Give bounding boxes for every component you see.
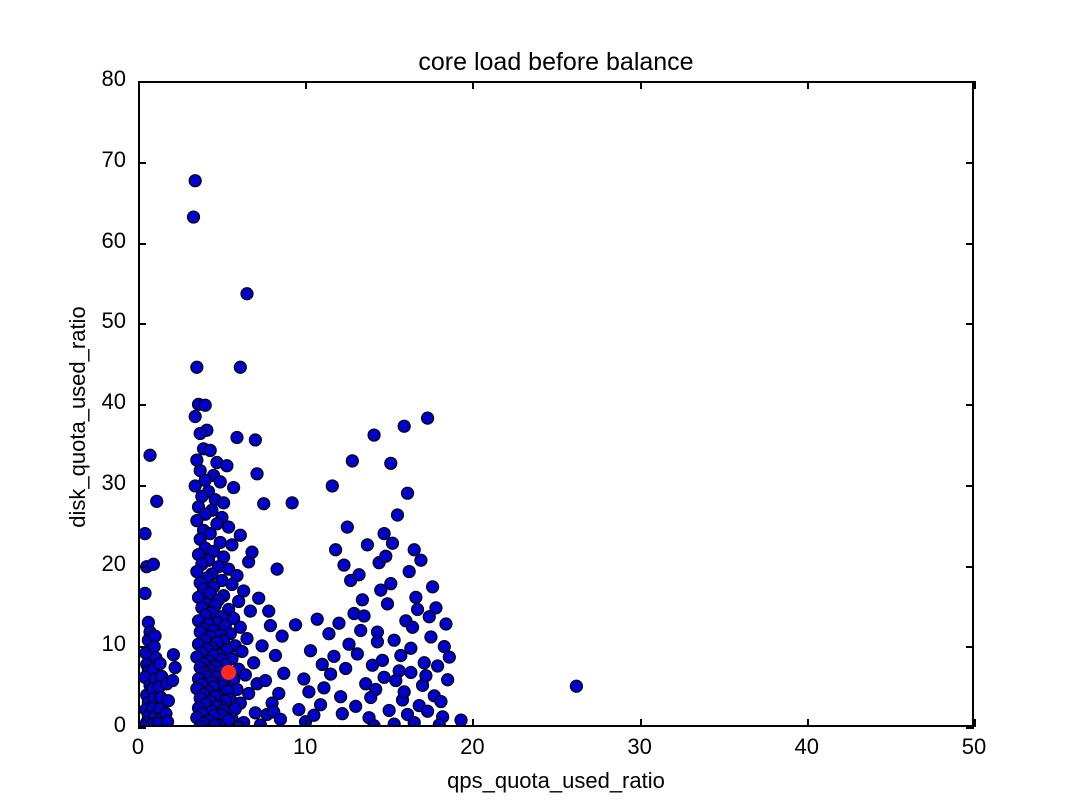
data-point	[353, 569, 365, 581]
data-point	[358, 610, 370, 622]
data-point	[311, 613, 323, 625]
data-point	[269, 650, 281, 662]
x-axis-tick-label: 10	[265, 734, 345, 760]
data-point	[455, 714, 467, 726]
data-point	[351, 648, 363, 660]
data-point	[355, 624, 367, 636]
data-point	[335, 691, 347, 703]
data-point	[380, 550, 392, 562]
data-point	[371, 636, 383, 648]
data-point	[259, 675, 271, 687]
plot-area	[138, 81, 974, 727]
data-point	[385, 578, 397, 590]
data-point	[315, 699, 327, 711]
data-point	[189, 175, 201, 187]
data-point	[298, 673, 310, 685]
data-point	[376, 654, 388, 666]
data-point	[328, 650, 340, 662]
data-point	[258, 498, 270, 510]
data-point	[223, 521, 235, 533]
data-point	[140, 587, 151, 599]
data-point	[148, 641, 160, 653]
data-point	[274, 713, 286, 725]
data-points-layer	[140, 83, 974, 727]
y-axis-tick	[966, 485, 974, 487]
data-point	[425, 631, 437, 643]
data-point	[326, 480, 338, 492]
x-axis-tick	[138, 719, 140, 727]
data-point	[239, 669, 251, 681]
data-point	[194, 721, 206, 727]
data-point	[318, 682, 330, 694]
data-point	[248, 657, 260, 669]
data-point	[263, 605, 275, 617]
x-axis-tick	[640, 81, 642, 89]
data-point	[398, 420, 410, 432]
data-point	[432, 660, 444, 672]
x-axis-tick-label: 40	[767, 734, 847, 760]
y-axis-tick	[138, 646, 146, 648]
y-axis-tick	[138, 485, 146, 487]
data-point	[418, 657, 430, 669]
data-point	[378, 528, 390, 540]
y-axis-tick	[138, 243, 146, 245]
data-point	[383, 704, 395, 716]
data-point	[408, 544, 420, 556]
y-axis-tick	[138, 162, 146, 164]
data-point	[361, 539, 373, 551]
x-axis-tick-label: 20	[432, 734, 512, 760]
data-point	[408, 717, 420, 727]
data-point	[286, 497, 298, 509]
y-axis-tick-label: 10	[48, 631, 126, 657]
y-axis-tick	[138, 81, 146, 83]
data-point	[415, 554, 427, 566]
y-axis-tick	[966, 162, 974, 164]
data-point	[162, 695, 174, 707]
data-point	[303, 686, 315, 698]
data-point	[368, 429, 380, 441]
y-axis-tick-label: 0	[48, 712, 126, 738]
x-axis-tick-label: 30	[600, 734, 680, 760]
data-point	[191, 361, 203, 373]
data-point	[276, 630, 288, 642]
y-axis-tick	[966, 646, 974, 648]
data-point	[189, 411, 201, 423]
data-point	[420, 670, 432, 682]
data-point	[340, 662, 352, 674]
x-axis-tick	[640, 719, 642, 727]
data-point	[233, 595, 245, 607]
data-point	[154, 658, 166, 670]
data-point	[365, 692, 377, 704]
data-point	[278, 667, 290, 679]
data-point	[264, 620, 276, 632]
x-axis-tick	[807, 719, 809, 727]
x-axis-tick	[807, 81, 809, 89]
data-point	[403, 566, 415, 578]
data-point	[410, 591, 422, 603]
data-point	[226, 539, 238, 551]
data-point	[204, 444, 216, 456]
data-point	[167, 675, 179, 687]
data-point	[249, 707, 261, 719]
x-axis-tick	[974, 81, 976, 89]
data-point	[398, 686, 410, 698]
data-point	[350, 700, 362, 712]
x-axis-tick	[472, 719, 474, 727]
data-point	[333, 617, 345, 629]
data-point	[323, 628, 335, 640]
data-point	[228, 482, 240, 494]
data-point	[440, 618, 452, 630]
data-point	[430, 602, 442, 614]
x-axis-tick	[472, 81, 474, 89]
data-point	[336, 708, 348, 720]
data-point	[390, 675, 402, 687]
data-point	[391, 509, 403, 521]
data-point	[341, 521, 353, 533]
data-point	[316, 658, 328, 670]
data-point	[194, 427, 206, 439]
data-point	[253, 592, 265, 604]
data-point	[218, 497, 230, 509]
x-axis-tick	[305, 81, 307, 89]
data-point	[368, 720, 380, 727]
y-axis-tick	[138, 566, 146, 568]
data-point	[221, 665, 236, 680]
data-point	[226, 578, 238, 590]
data-point	[151, 495, 163, 507]
y-axis-tick	[138, 323, 146, 325]
data-point	[308, 709, 320, 721]
data-point	[140, 528, 151, 540]
data-point	[325, 668, 337, 680]
y-axis-tick-label: 80	[48, 66, 126, 92]
data-point	[209, 720, 221, 727]
data-point	[435, 696, 447, 708]
data-point	[442, 674, 454, 686]
data-point	[378, 671, 390, 683]
y-axis-tick	[138, 404, 146, 406]
data-point	[422, 412, 434, 424]
data-point	[290, 619, 302, 631]
data-point	[249, 434, 261, 446]
data-point	[144, 449, 156, 461]
y-axis-tick	[966, 404, 974, 406]
data-point	[243, 687, 255, 699]
x-axis-label: qps_quota_used_ratio	[138, 768, 974, 794]
data-point	[244, 605, 256, 617]
data-point	[293, 704, 305, 716]
data-point	[356, 594, 368, 606]
data-point	[330, 544, 342, 556]
page-title: core load before balance	[138, 48, 974, 77]
data-point	[169, 662, 181, 674]
x-axis-tick	[305, 719, 307, 727]
data-point	[407, 621, 419, 633]
data-point	[381, 598, 393, 610]
data-point	[251, 468, 263, 480]
data-point	[305, 645, 317, 657]
data-point	[246, 546, 258, 558]
data-point	[188, 211, 200, 223]
y-axis-label: disk_quota_used_ratio	[65, 267, 91, 567]
x-axis-tick-label: 50	[934, 734, 1014, 760]
data-point	[343, 638, 355, 650]
data-point	[386, 537, 398, 549]
data-point	[167, 649, 179, 661]
data-point	[241, 288, 253, 300]
data-point	[385, 457, 397, 469]
data-point	[234, 529, 246, 541]
data-point	[443, 651, 455, 663]
y-axis-tick	[966, 323, 974, 325]
data-point	[570, 680, 582, 692]
scatter-plot-figure: core load before balance 010203040500102…	[0, 0, 1080, 810]
y-axis-tick	[966, 566, 974, 568]
data-point	[433, 719, 445, 727]
y-axis-tick	[966, 81, 974, 83]
data-point	[162, 716, 174, 727]
y-axis-tick-label: 70	[48, 147, 126, 173]
data-point	[214, 476, 226, 488]
data-point	[395, 650, 407, 662]
data-point	[199, 399, 211, 411]
data-point	[402, 487, 414, 499]
data-point	[388, 634, 400, 646]
y-axis-tick-label: 60	[48, 228, 126, 254]
data-point	[231, 431, 243, 443]
data-point	[422, 705, 434, 717]
data-point	[273, 687, 285, 699]
data-point	[405, 666, 417, 678]
y-axis-tick	[138, 727, 146, 729]
y-axis-tick	[966, 243, 974, 245]
data-point	[256, 640, 268, 652]
data-point	[427, 581, 439, 593]
data-point	[412, 603, 424, 615]
data-point	[388, 718, 400, 727]
data-point	[346, 455, 358, 467]
data-point	[147, 558, 159, 570]
data-point	[189, 480, 201, 492]
data-point	[241, 633, 253, 645]
data-point	[338, 559, 350, 571]
x-axis-tick	[974, 719, 976, 727]
data-point	[271, 563, 283, 575]
data-point	[221, 460, 233, 472]
data-point	[234, 361, 246, 373]
y-axis-tick	[966, 727, 974, 729]
